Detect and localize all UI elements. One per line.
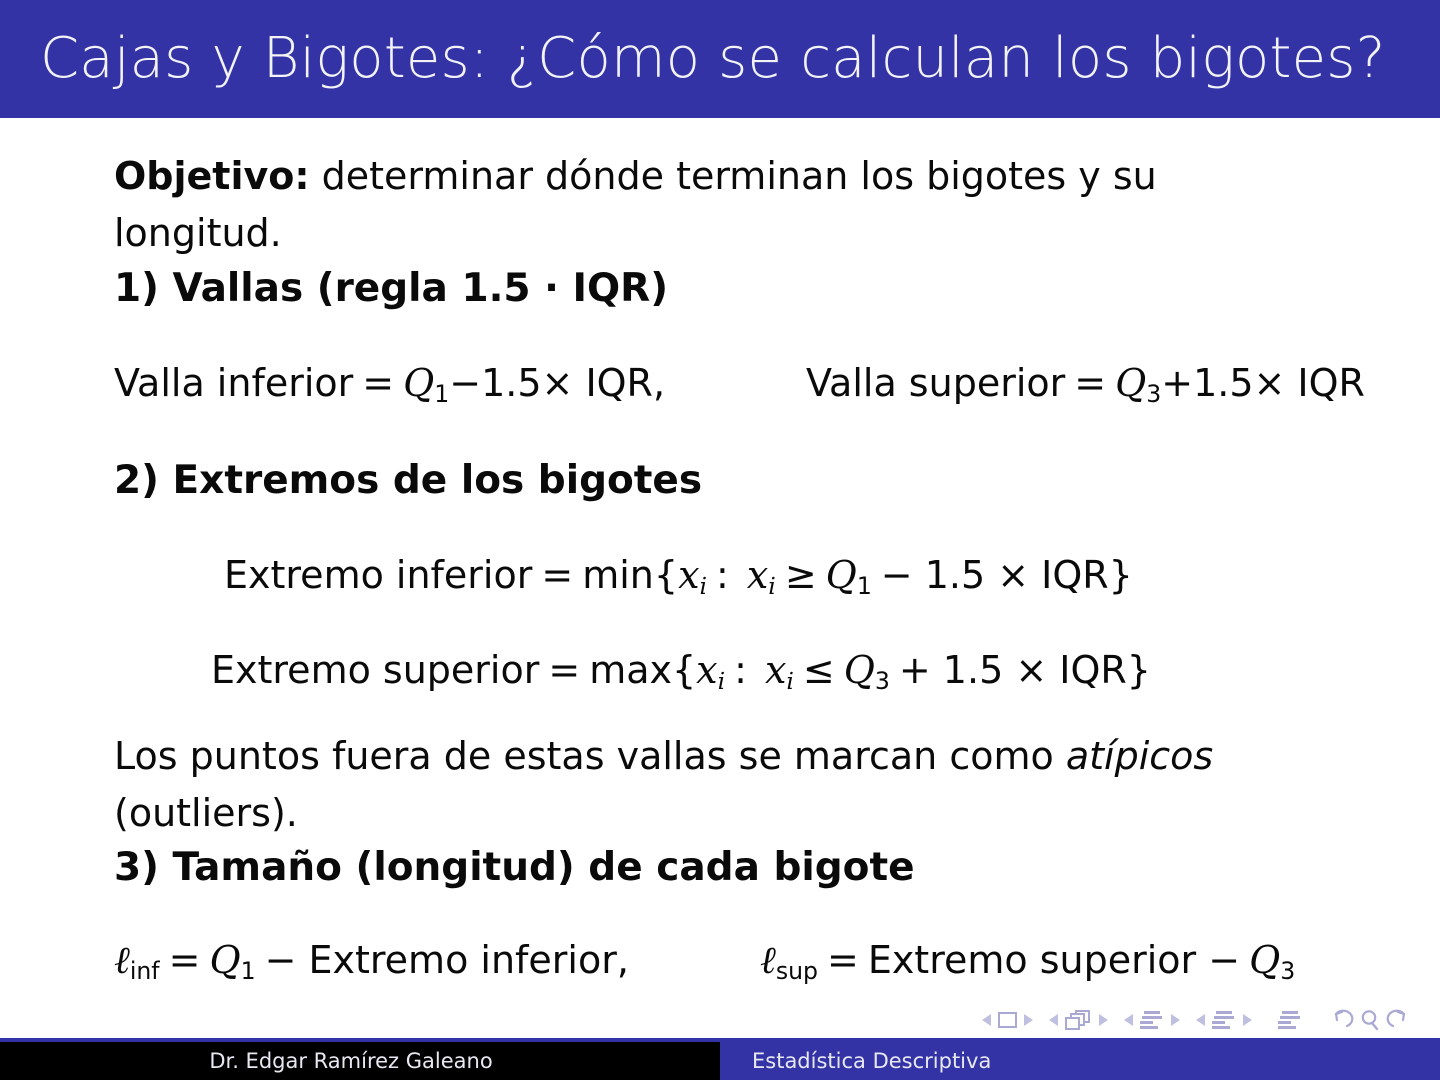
- extremo-superior-q-sub: 3: [875, 667, 890, 695]
- slide-content: Objetivo: determinar dónde terminan los …: [0, 118, 1440, 998]
- footer-author: Dr. Edgar Ramírez Galeano: [209, 1049, 510, 1073]
- valla-inferior-lhs: Valla inferior: [114, 361, 353, 405]
- nav-group-frame: [1049, 1010, 1108, 1031]
- valla-inferior-q: Q: [403, 361, 434, 405]
- equation-extremo-superior: Extremo superior=max{xi:xi≤Q3+ 1.5 × IQR…: [211, 648, 1151, 695]
- extremo-superior-x1: x: [696, 648, 717, 692]
- l-inf-ell: ℓ: [114, 938, 130, 982]
- valla-superior-rest: +1.5× IQR: [1161, 361, 1365, 405]
- next-subsection-icon[interactable]: [1171, 1014, 1180, 1026]
- l-sup-ell-sub: sup: [776, 957, 818, 985]
- extremo-superior-x2-sub: i: [786, 667, 794, 695]
- l-sup-q-sub: 3: [1280, 957, 1295, 985]
- extremo-inferior-x1: x: [678, 553, 699, 597]
- page-title: Cajas y Bigotes: ¿Cómo se calculan los b…: [40, 31, 1386, 87]
- beamer-navigation-bar: [0, 1000, 1440, 1040]
- slide-footer: Dr. Edgar Ramírez Galeano Estadística De…: [0, 1042, 1440, 1080]
- forward-arrow-icon[interactable]: [1386, 1008, 1412, 1032]
- l-inf-rest: − Extremo inferior,: [265, 938, 629, 982]
- objective-paragraph: Objetivo: determinar dónde terminan los …: [114, 148, 1234, 262]
- l-inf-ell-sub: inf: [130, 957, 160, 985]
- equation-valla-inferior: Valla inferior=Q1−1.5× IQR,: [114, 361, 665, 408]
- outliers-emphasis: atípicos: [1066, 734, 1213, 778]
- nav-group-history: [1328, 1008, 1412, 1032]
- valla-inferior-q-sub: 1: [434, 380, 449, 408]
- extremo-superior-equals: =: [548, 648, 580, 692]
- extremo-inferior-lhs: Extremo inferior: [224, 553, 532, 597]
- extremo-inferior-x1-sub: i: [700, 572, 708, 600]
- outliers-paragraph: Los puntos fuera de estas vallas se marc…: [114, 728, 1244, 842]
- extremo-superior-colon: :: [734, 648, 747, 692]
- extremo-superior-x1-sub: i: [718, 667, 726, 695]
- extremo-superior-lhs: Extremo superior: [211, 648, 539, 692]
- equation-extremo-inferior: Extremo inferior=min{xi:xi≥Q1− 1.5 × IQR…: [224, 553, 1133, 600]
- next-frame-icon[interactable]: [1099, 1014, 1108, 1026]
- l-sup-ell: ℓ: [760, 938, 776, 982]
- extremo-inferior-x2-sub: i: [768, 572, 776, 600]
- footer-author-section: Dr. Edgar Ramírez Galeano: [0, 1042, 720, 1080]
- extremo-superior-fn: max{: [589, 648, 696, 692]
- search-icon[interactable]: [1358, 1008, 1382, 1032]
- outliers-text-a: Los puntos fuera de estas vallas se marc…: [114, 734, 1066, 778]
- slide-title-bar: Cajas y Bigotes: ¿Cómo se calculan los b…: [0, 0, 1440, 118]
- l-inf-q: Q: [209, 938, 240, 982]
- extremo-inferior-x2: x: [747, 553, 768, 597]
- stacked-frames-icon[interactable]: [1065, 1010, 1092, 1031]
- valla-superior-q: Q: [1115, 361, 1146, 405]
- l-inf-equals: =: [169, 938, 201, 982]
- valla-superior-equals: =: [1074, 361, 1106, 405]
- section-1-heading: 1) Vallas (regla 1.5 · IQR): [114, 266, 668, 311]
- back-arrow-icon[interactable]: [1328, 1008, 1354, 1032]
- objective-label: Objetivo:: [114, 154, 310, 198]
- equation-longitud-inferior: ℓinf=Q1− Extremo inferior,: [114, 938, 629, 985]
- prev-frame-icon[interactable]: [1049, 1014, 1058, 1026]
- footer-course: Estadística Descriptiva: [752, 1049, 991, 1073]
- l-sup-q: Q: [1249, 938, 1280, 982]
- nav-group-subsection: [1124, 1009, 1180, 1031]
- l-sup-equals: =: [827, 938, 859, 982]
- extremo-inferior-equals: =: [541, 553, 573, 597]
- nav-group-slide: [982, 1012, 1033, 1028]
- extremo-superior-x2: x: [765, 648, 786, 692]
- section-lines-icon[interactable]: [1212, 1009, 1236, 1031]
- extremo-inferior-q: Q: [826, 553, 857, 597]
- equation-valla-superior: Valla superior=Q3+1.5× IQR: [806, 361, 1365, 408]
- document-lines-icon[interactable]: [1278, 1009, 1302, 1031]
- extremo-inferior-tail: − 1.5 × IQR}: [881, 553, 1133, 597]
- valla-superior-q-sub: 3: [1146, 380, 1161, 408]
- extremo-superior-relation: ≤: [803, 648, 835, 692]
- nav-group-section: [1196, 1009, 1252, 1031]
- square-icon[interactable]: [998, 1012, 1017, 1028]
- extremo-inferior-q-sub: 1: [857, 572, 872, 600]
- valla-superior-lhs: Valla superior: [806, 361, 1065, 405]
- extremo-inferior-relation: ≥: [785, 553, 817, 597]
- next-section-icon[interactable]: [1243, 1014, 1252, 1026]
- extremo-inferior-fn: min{: [582, 553, 678, 597]
- l-sup-rest: Extremo superior −: [868, 938, 1240, 982]
- footer-course-section: Estadística Descriptiva: [720, 1042, 1440, 1080]
- valla-inferior-rest: −1.5× IQR,: [449, 361, 665, 405]
- extremo-superior-q: Q: [844, 648, 875, 692]
- next-slide-icon[interactable]: [1024, 1014, 1033, 1026]
- outliers-text-b: (outliers).: [114, 791, 298, 835]
- valla-inferior-equals: =: [362, 361, 394, 405]
- nav-group-document: [1278, 1009, 1302, 1031]
- l-inf-q-sub: 1: [241, 957, 256, 985]
- section-2-heading: 2) Extremos de los bigotes: [114, 458, 702, 503]
- section-3-heading: 3) Tamaño (longitud) de cada bigote: [114, 845, 915, 890]
- subsection-lines-icon[interactable]: [1140, 1009, 1164, 1031]
- extremo-inferior-colon: :: [716, 553, 729, 597]
- extremo-superior-tail: + 1.5 × IQR}: [899, 648, 1151, 692]
- equation-longitud-superior: ℓsup=Extremo superior −Q3: [760, 938, 1295, 985]
- prev-slide-icon[interactable]: [982, 1014, 991, 1026]
- prev-subsection-icon[interactable]: [1124, 1014, 1133, 1026]
- prev-section-icon[interactable]: [1196, 1014, 1205, 1026]
